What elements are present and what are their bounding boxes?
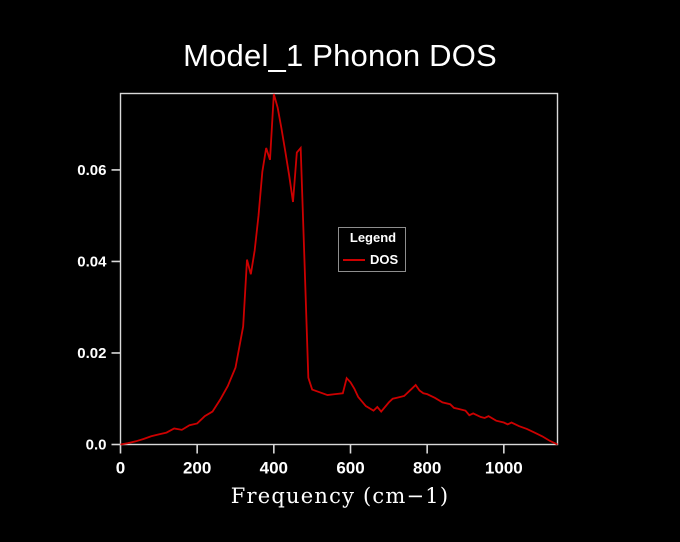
x-axis-label: Frequency (cm−1): [0, 484, 680, 508]
legend-line-swatch: [343, 259, 365, 261]
y-tick-label: 0.04: [77, 253, 107, 270]
x-tick-label: 600: [336, 459, 364, 478]
y-tick-label: 0.02: [77, 345, 106, 362]
y-tick-label: 0.06: [77, 162, 106, 179]
x-tick-label: 400: [260, 459, 288, 478]
x-tick-label: 1000: [485, 459, 523, 478]
x-tick-label: 800: [413, 459, 441, 478]
y-axis-ticks: 0.00.020.040.06: [77, 162, 120, 454]
legend-title: Legend: [339, 230, 407, 245]
phonon-dos-figure: Model_1 Phonon DOS 02004006008001000 0.0…: [0, 0, 680, 542]
legend: Legend DOS: [338, 227, 406, 272]
x-axis-ticks: 02004006008001000: [116, 445, 523, 478]
legend-item-dos: DOS: [343, 252, 398, 267]
legend-item-label: DOS: [370, 252, 398, 267]
x-tick-label: 200: [183, 459, 211, 478]
x-tick-label: 0: [116, 459, 125, 478]
y-tick-label: 0.0: [86, 437, 107, 454]
